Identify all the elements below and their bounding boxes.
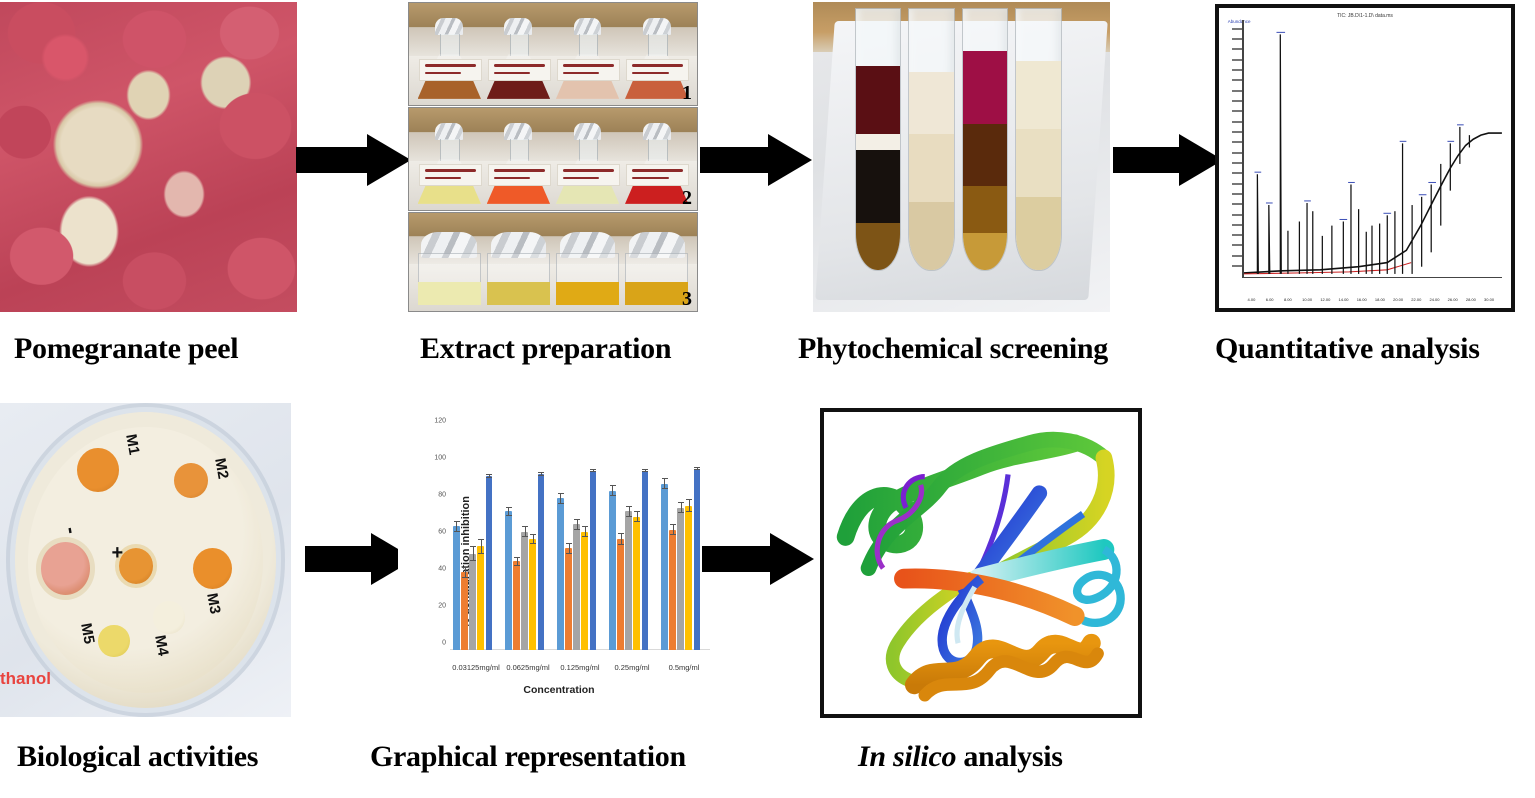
chart-error-bar [489, 474, 490, 478]
well-M1 [77, 448, 119, 492]
flask-1-3 [556, 19, 619, 99]
flask-neck [440, 34, 460, 56]
foil-cap-icon [643, 18, 671, 36]
chart-y-tick-label: 20 [438, 603, 446, 610]
chart-bar [513, 561, 520, 650]
caption-graphical-representation: Graphical representation [370, 742, 686, 772]
chart-bar [642, 471, 649, 650]
extract-preparation-image: 1 [408, 2, 698, 312]
arrow-graphical-to-insilico [702, 533, 814, 585]
chart-bar [581, 532, 588, 650]
tube-layer [963, 233, 1008, 269]
chart-error-bar [541, 472, 542, 476]
graphical-abstract: 1 [0, 0, 1535, 798]
caption-in-silico-rest: analysis [956, 740, 1063, 773]
well-M3 [193, 548, 232, 589]
chart-x-category-label: 0.0625mg/ml [506, 663, 549, 672]
chart-y-tick-label: 0 [442, 640, 446, 647]
pomegranate-peel-image [0, 2, 297, 312]
chart-error-bar [481, 539, 482, 554]
chart-bar-group [502, 428, 554, 650]
strip-number: 2 [682, 187, 692, 210]
chart-bar [609, 491, 616, 650]
chart-bar [557, 498, 564, 650]
chromatogram-y-axis [1225, 20, 1243, 278]
flask-2-2 [487, 124, 550, 204]
chromatogram-trace [1244, 20, 1502, 277]
chart-bar-group [554, 428, 606, 650]
tube-layer [856, 134, 901, 150]
flask-2-3 [556, 124, 619, 204]
flask-2-4 [625, 124, 688, 204]
chart-bar [625, 511, 632, 650]
chart-bar [505, 511, 512, 650]
beaker-3-3 [556, 229, 619, 305]
chart-bar [617, 539, 624, 650]
tube-layer [963, 186, 1008, 233]
chart-bar-group [450, 428, 502, 650]
control-label-positive: + [111, 542, 123, 565]
caption-pomegranate-peel: Pomegranate peel [14, 334, 238, 364]
flask-neck [579, 34, 599, 56]
test-tube-2 [908, 8, 955, 270]
chromatogram-x-tick-labels: 4.006.00 8.0010.00 12.0014.00 16.0018.00… [1242, 295, 1502, 302]
beaker-liquid [556, 282, 619, 305]
well-M5 [98, 625, 129, 657]
chart-error-bar [697, 467, 698, 470]
chart-error-bar [612, 485, 613, 496]
beaker-3-1 [418, 229, 481, 305]
test-tube-1 [855, 8, 902, 270]
beaker-liquid [418, 282, 481, 305]
caption-phytochemical-screening: Phytochemical screening [798, 334, 1108, 364]
chart-bar [669, 530, 676, 650]
well-M2 [174, 463, 208, 498]
chart-error-bar [637, 511, 638, 522]
phytochemical-screening-image [813, 2, 1110, 312]
flask-label [626, 59, 689, 82]
flask-label [419, 164, 482, 187]
foil-cap-icon [504, 18, 532, 36]
caption-quantitative-analysis: Quantitative analysis [1215, 334, 1480, 364]
chart-error-bar [689, 499, 690, 512]
chart-bar [565, 548, 572, 650]
flask-1-2 [487, 19, 550, 99]
flask-neck [648, 139, 668, 161]
chart-error-bar [525, 526, 526, 537]
chart-y-tick-label: 100 [434, 455, 446, 462]
chart-error-bar [533, 534, 534, 543]
biological-activities-image: M1 M2 M3 M4 M5 + - thanol [0, 403, 291, 717]
test-tube-4 [1015, 8, 1062, 270]
chart-error-bar [681, 502, 682, 513]
flask-neck [648, 34, 668, 56]
chromatogram-plot-area [1242, 20, 1502, 278]
chart-bar-group [606, 428, 658, 650]
chart-bar [453, 526, 460, 650]
tube-layer [1016, 61, 1061, 129]
chart-bar [573, 524, 580, 650]
beaker-liquid [625, 282, 688, 305]
chart-bar [538, 474, 545, 650]
flask-label [626, 164, 689, 187]
chart-error-bar [673, 524, 674, 535]
beaker-liquid [487, 282, 550, 305]
beaker-3-4 [625, 229, 688, 305]
tube-layer [856, 223, 901, 270]
chart-error-bar [629, 506, 630, 517]
extract-strip-3: 3 [408, 212, 698, 312]
tube-layer [856, 150, 901, 223]
flask-label [488, 164, 551, 187]
chart-y-tick-label: 40 [438, 566, 446, 573]
chart-error-bar [473, 546, 474, 561]
flask-label [557, 59, 620, 82]
extract-strip-2: 2 [408, 107, 698, 211]
caption-in-silico-analysis: In silico analysis [858, 742, 1063, 772]
graphical-representation-chart: % denaturation inhibition 02040608010012… [398, 412, 720, 712]
tube-layer [1016, 9, 1061, 61]
tube-layer [909, 72, 954, 134]
arrow-peel-to-extract [296, 134, 411, 186]
flask-label [419, 59, 482, 82]
foil-cap-icon [435, 18, 463, 36]
chart-bar [633, 517, 640, 650]
caption-biological-activities: Biological activities [17, 742, 258, 772]
tube-layer [909, 202, 954, 270]
caption-extract-preparation: Extract preparation [420, 334, 671, 364]
chart-y-tick-label: 80 [438, 492, 446, 499]
strip-number: 3 [682, 288, 692, 311]
flask-2-1 [418, 124, 481, 204]
chart-error-bar [456, 521, 457, 532]
chart-error-bar [621, 533, 622, 544]
extract-strip-1: 1 [408, 2, 698, 106]
flask-neck [510, 34, 530, 56]
chart-error-bar [585, 526, 586, 537]
well-label-M4: M4 [151, 633, 171, 656]
tube-layer [856, 66, 901, 134]
chart-x-category-label: 0.25mg/ml [614, 663, 649, 672]
chart-error-bar [569, 543, 570, 554]
tube-layer [963, 9, 1008, 51]
chart-x-axis-title: Concentration [398, 684, 720, 696]
arrow-extract-to-phytochemical [700, 134, 812, 186]
well-M4 [153, 601, 184, 633]
chromatogram-title: TIC: JB.D\1-1.D\ data.ms [1219, 13, 1511, 19]
chart-bar [486, 476, 493, 650]
chart-bar [469, 554, 476, 650]
protein-ribbon-diagram [824, 412, 1138, 714]
chart-bar [529, 539, 536, 650]
foil-cap-icon [504, 123, 532, 141]
chart-error-bar [645, 469, 646, 472]
well-label-M1: M1 [122, 433, 142, 456]
tube-layer [856, 9, 901, 66]
caption-in-silico-italic: In silico [858, 740, 956, 773]
chart-error-bar [465, 567, 466, 578]
beaker-3-2 [487, 229, 550, 305]
foil-cap-icon [643, 123, 671, 141]
chart-bar [694, 469, 701, 650]
chart-x-category-label: 0.125mg/ml [560, 663, 599, 672]
tube-layer [909, 9, 954, 71]
chart-error-bar [593, 469, 594, 472]
strip-number: 1 [682, 82, 692, 105]
flask-neck [510, 139, 530, 161]
chart-bar [590, 471, 597, 650]
flask-label [488, 59, 551, 82]
chart-y-tick-label: 120 [434, 418, 446, 425]
foil-cap-icon [574, 123, 602, 141]
chart-error-bar [517, 557, 518, 566]
chart-bar [461, 572, 468, 650]
petri-dish: M1 M2 M3 M4 M5 + - [15, 412, 277, 707]
chart-bar [661, 484, 668, 651]
quantitative-analysis-chromatogram: TIC: JB.D\1-1.D\ data.ms Abundance [1215, 4, 1515, 312]
chart-bar [685, 506, 692, 650]
flask-1-4 [625, 19, 688, 99]
chart-x-category-label: 0.03125mg/ml [452, 663, 500, 672]
chart-bar [677, 508, 684, 650]
chart-plot-area: 020406080100120 [450, 428, 710, 650]
tube-layer [963, 51, 1008, 124]
test-tube-3 [962, 8, 1009, 270]
chart-bar [521, 532, 528, 650]
foil-cap-icon [435, 123, 463, 141]
solvent-label: thanol [0, 669, 51, 689]
chart-y-tick-label: 60 [438, 529, 446, 536]
chart-bar [477, 546, 484, 650]
chart-error-bar [577, 519, 578, 530]
arrow-phytochemical-to-quantitative [1113, 134, 1223, 186]
chart-error-bar [560, 493, 561, 504]
foil-cap-icon [574, 18, 602, 36]
flask-1-1 [418, 19, 481, 99]
flask-label [557, 164, 620, 187]
tube-layer [1016, 197, 1061, 270]
chart-error-bar [664, 478, 665, 489]
tube-layer [909, 134, 954, 202]
well-positive-control [119, 548, 153, 583]
tube-layer [1016, 129, 1061, 197]
chart-error-bar [508, 507, 509, 516]
tube-layer [963, 124, 1008, 186]
flask-neck [579, 139, 599, 161]
chart-x-category-label: 0.5mg/ml [669, 663, 700, 672]
flask-neck [440, 139, 460, 161]
well-label-M3: M3 [203, 592, 223, 615]
well-label-M2: M2 [211, 456, 231, 479]
in-silico-protein-structure [820, 408, 1142, 718]
